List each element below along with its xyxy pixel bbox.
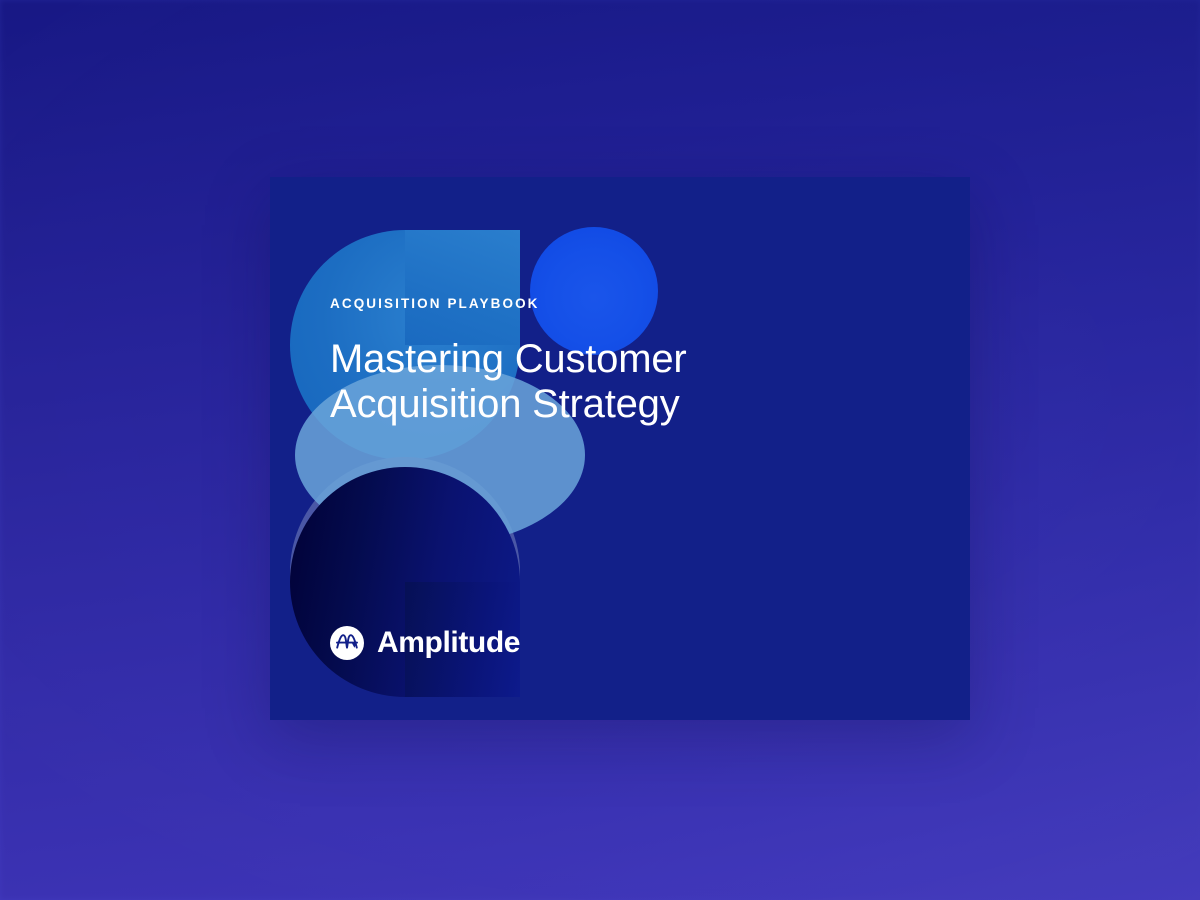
cover-eyebrow-label: ACQUISITION PLAYBOOK	[330, 297, 730, 311]
cover-title: Mastering Customer Acquisition Strategy	[330, 337, 730, 428]
amplitude-logo-icon	[330, 626, 364, 660]
brand-lockup[interactable]: Amplitude	[330, 626, 520, 660]
brand-name-label: Amplitude	[377, 628, 520, 658]
dark-navy-bottom-circle	[290, 467, 520, 697]
ebook-cover-card[interactable]: ACQUISITION PLAYBOOK Mastering Customer …	[270, 177, 970, 720]
cover-artwork-stage: ACQUISITION PLAYBOOK Mastering Customer …	[0, 0, 1200, 900]
cover-text-block: ACQUISITION PLAYBOOK Mastering Customer …	[330, 297, 730, 428]
